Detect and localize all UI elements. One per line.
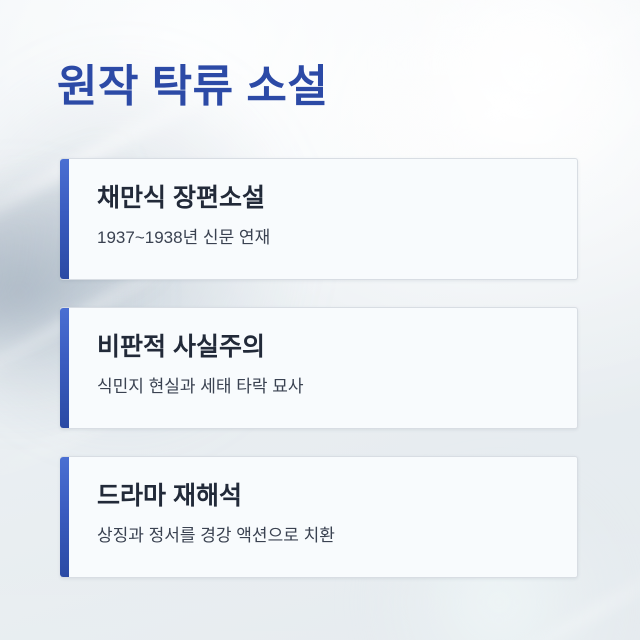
card-accent-bar	[60, 308, 69, 428]
card-accent-bar	[60, 159, 69, 279]
card-list: 채만식 장편소설 1937~1938년 신문 연재 비판적 사실주의 식민지 현…	[60, 158, 578, 578]
card-subtitle: 상징과 정서를 경강 액션으로 치환	[97, 525, 555, 547]
card-subtitle: 식민지 현실과 세태 타락 묘사	[97, 376, 555, 398]
card-body: 드라마 재해석 상징과 정서를 경강 액션으로 치환	[69, 457, 577, 577]
card-accent-bar	[60, 457, 69, 577]
card-subtitle: 1937~1938년 신문 연재	[97, 227, 555, 249]
card-item: 채만식 장편소설 1937~1938년 신문 연재	[60, 158, 578, 280]
card-body: 비판적 사실주의 식민지 현실과 세태 타락 묘사	[69, 308, 577, 428]
slide-canvas: 원작 탁류 소설 채만식 장편소설 1937~1938년 신문 연재 비판적 사…	[0, 0, 640, 640]
card-title: 채만식 장편소설	[97, 183, 555, 214]
card-item: 비판적 사실주의 식민지 현실과 세태 타락 묘사	[60, 307, 578, 429]
card-title: 드라마 재해석	[97, 481, 555, 512]
card-item: 드라마 재해석 상징과 정서를 경강 액션으로 치환	[60, 456, 578, 578]
page-title: 원작 탁류 소설	[57, 62, 328, 113]
card-title: 비판적 사실주의	[97, 332, 555, 363]
card-body: 채만식 장편소설 1937~1938년 신문 연재	[69, 159, 577, 279]
